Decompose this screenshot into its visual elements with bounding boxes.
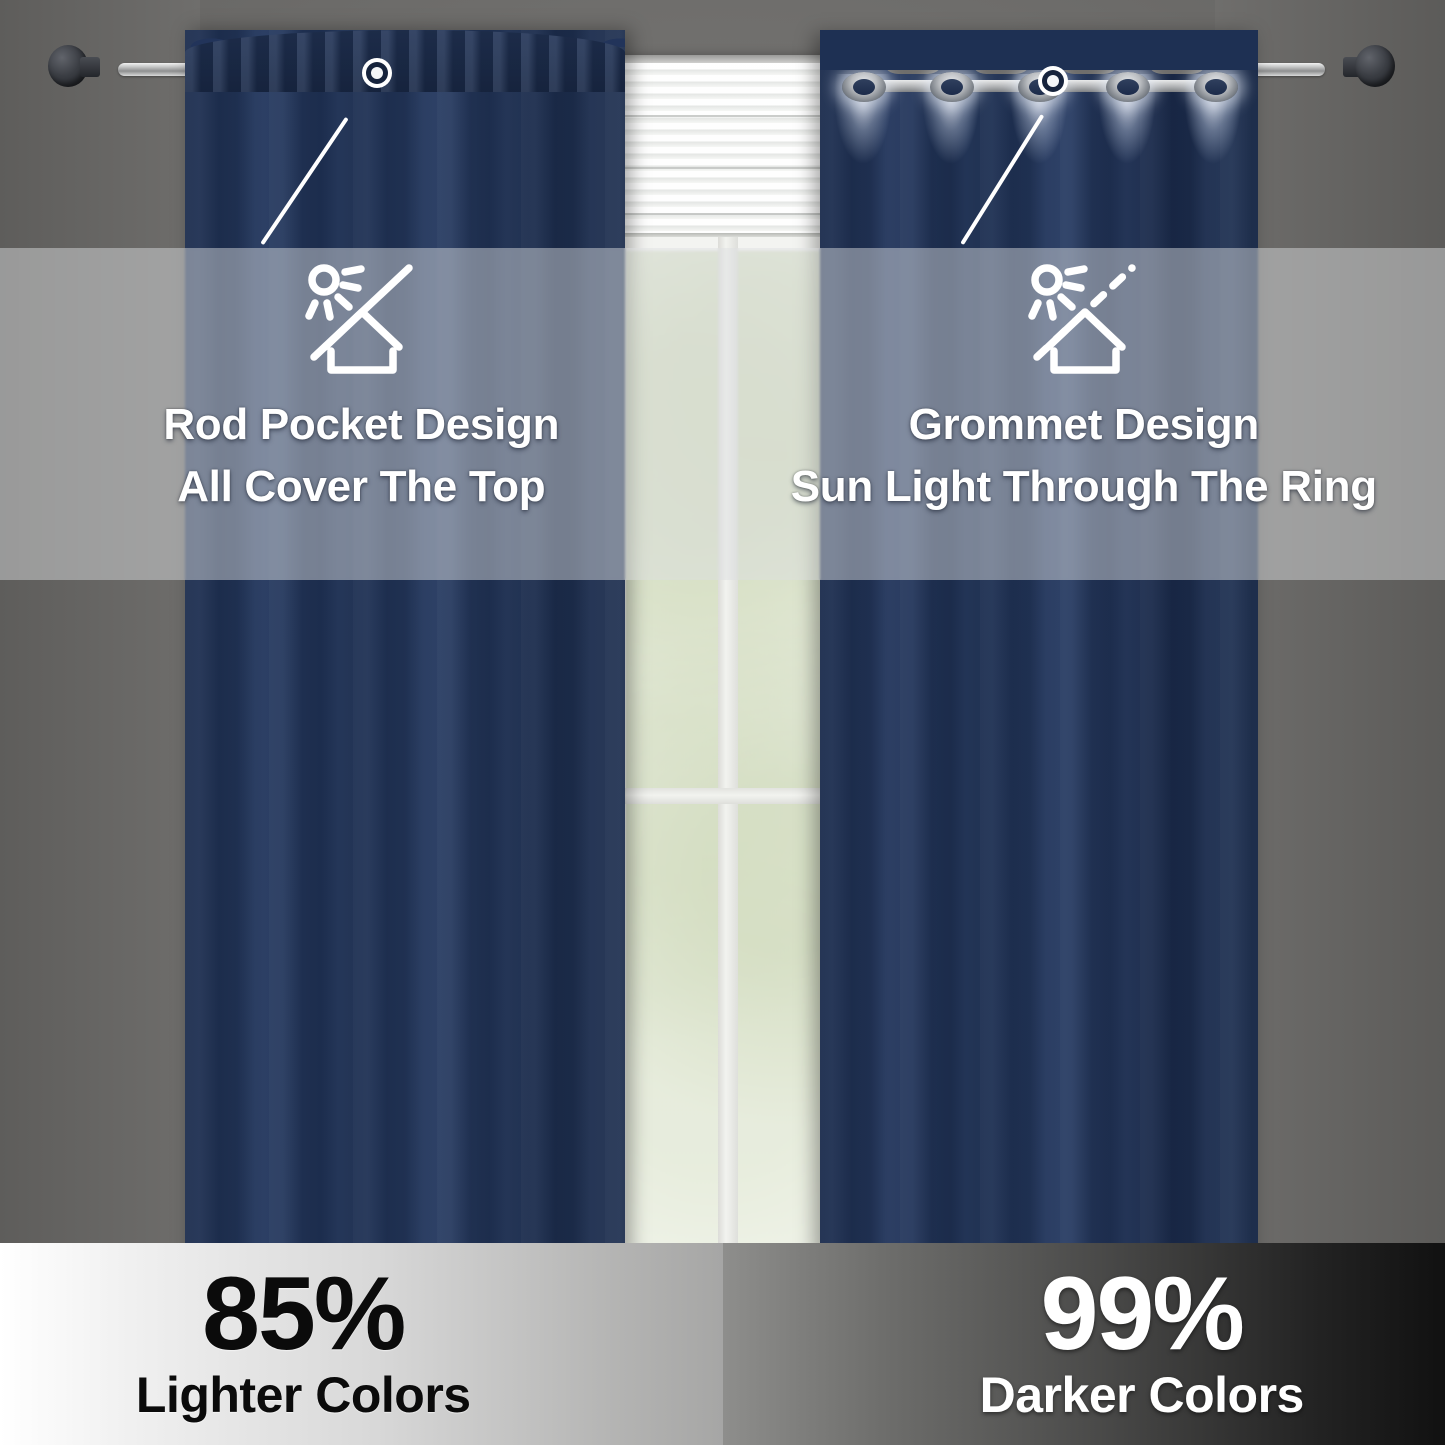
curtain-panel-rod-pocket xyxy=(185,30,625,1262)
feature-overlay-band: Rod Pocket Design All Cover The Top xyxy=(0,248,1445,580)
feature-line-2: Sun Light Through The Ring xyxy=(791,456,1377,518)
darker-label: Darker Colors xyxy=(980,1368,1304,1423)
footer-block-darker: 99% Darker Colors xyxy=(723,1243,1445,1445)
window-mullion-horizontal xyxy=(614,788,842,804)
feature-label-rod-pocket: Rod Pocket Design All Cover The Top xyxy=(163,394,559,519)
grommet-ring-icon xyxy=(1194,72,1238,102)
footer-block-lighter: 85% Lighter Colors xyxy=(0,1243,723,1445)
darker-percent: 99% xyxy=(980,1265,1304,1364)
window xyxy=(612,55,844,1260)
lighter-percent: 85% xyxy=(136,1265,471,1364)
wall-shadow-left xyxy=(0,0,200,1445)
grommet-ring-icon xyxy=(1106,72,1150,102)
feature-line-1: Rod Pocket Design xyxy=(163,400,559,449)
window-valance xyxy=(614,63,842,235)
finial-right-icon xyxy=(1343,45,1395,97)
footer-banner: 85% Lighter Colors 99% Darker Colors xyxy=(0,1243,1445,1445)
sun-through-house-icon xyxy=(1020,254,1148,378)
grommet-ring-icon xyxy=(1018,72,1062,102)
feature-line-1: Grommet Design xyxy=(909,400,1259,449)
sun-blocked-house-icon xyxy=(297,254,425,378)
rod-pocket-header xyxy=(185,30,625,92)
feature-line-2: All Cover The Top xyxy=(163,456,559,518)
lighter-label: Lighter Colors xyxy=(136,1368,471,1423)
curtain-panel-grommet xyxy=(820,34,1258,1262)
grommet-ring-icon xyxy=(930,72,974,102)
window-header-trim xyxy=(612,55,844,63)
finial-left-icon xyxy=(48,45,100,97)
feature-block-rod-pocket: Rod Pocket Design All Cover The Top xyxy=(0,248,723,580)
grommet-scalloped-edge xyxy=(820,30,1258,70)
feature-label-grommet: Grommet Design Sun Light Through The Rin… xyxy=(791,394,1377,519)
product-feature-image: Rod Pocket Design All Cover The Top xyxy=(0,0,1445,1445)
grommet-ring-icon xyxy=(842,72,886,102)
feature-block-grommet: Grommet Design Sun Light Through The Rin… xyxy=(723,248,1445,580)
